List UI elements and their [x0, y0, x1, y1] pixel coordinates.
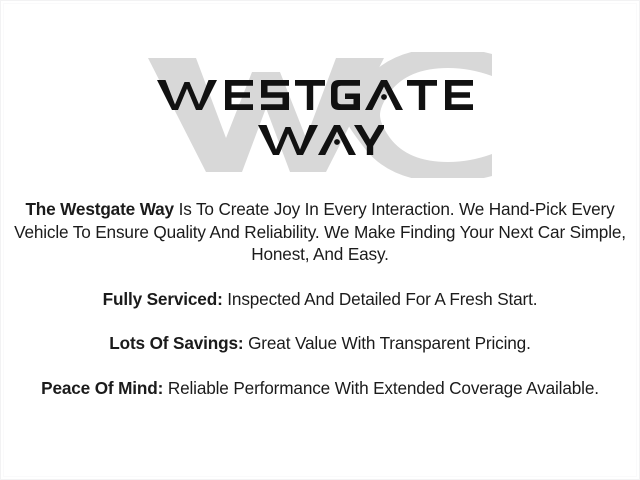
- westgate-way-wordmark: [0, 52, 640, 178]
- paragraph-lots-of-savings-lead: Lots Of Savings:: [109, 333, 243, 353]
- paragraph-peace-of-mind: Peace Of Mind: Reliable Performance With…: [14, 377, 626, 400]
- paragraph-peace-of-mind-lead: Peace Of Mind:: [41, 378, 163, 398]
- paragraph-lots-of-savings: Lots Of Savings: Great Value With Transp…: [14, 332, 626, 355]
- paragraph-fully-serviced: Fully Serviced: Inspected And Detailed F…: [14, 288, 626, 311]
- wordmark-line-westgate: [155, 72, 485, 114]
- paragraph-fully-serviced-rest: Inspected And Detailed For A Fresh Start…: [223, 289, 538, 309]
- dealer-logo-block: [0, 52, 640, 178]
- paragraph-lots-of-savings-rest: Great Value With Transparent Pricing.: [243, 333, 530, 353]
- paragraph-fully-serviced-lead: Fully Serviced:: [103, 289, 223, 309]
- paragraph-peace-of-mind-rest: Reliable Performance With Extended Cover…: [163, 378, 599, 398]
- westgate-way-copy: The Westgate Way Is To Create Joy In Eve…: [14, 198, 626, 399]
- wordmark-line-way: [256, 120, 384, 158]
- paragraph-intro: The Westgate Way Is To Create Joy In Eve…: [14, 198, 626, 266]
- paragraph-intro-lead: The Westgate Way: [25, 199, 174, 219]
- westgate-way-info-panel: The Westgate Way Is To Create Joy In Eve…: [0, 0, 640, 480]
